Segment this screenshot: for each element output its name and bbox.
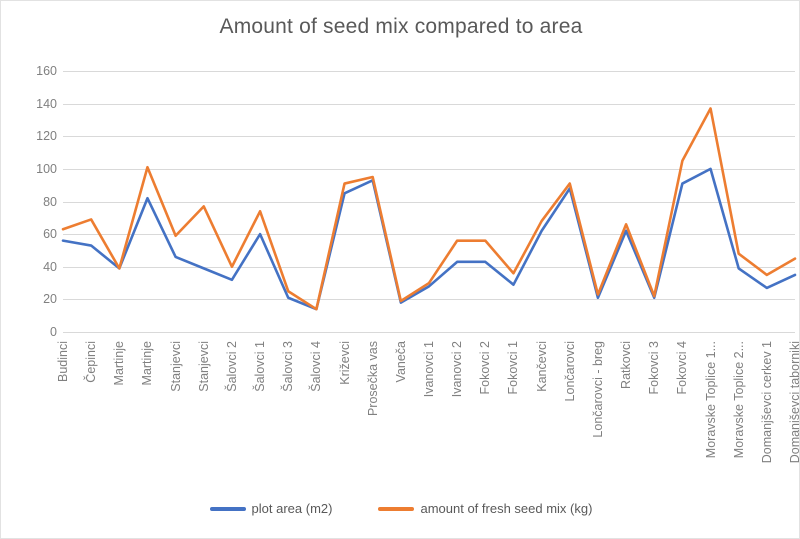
plot-area [63,71,795,332]
x-axis-tick-label: Stanjevci [197,341,211,392]
x-axis-tick: Martinje [106,341,133,487]
y-axis-tick-labels: 020406080100120140160 [1,71,57,332]
y-axis-tick-label: 20 [43,292,57,306]
y-axis-tick-label: 80 [43,195,57,209]
x-axis-tick: Ratkovci [613,341,640,487]
x-axis-tick: Prosečka vas [359,341,386,487]
x-axis-tick-label: Domanjševci taborniki [788,341,800,463]
legend-swatch-icon [210,507,246,511]
x-axis-tick: Budinci [49,341,76,487]
x-axis-tick-labels: BudinciČepinciMartinjeMartinjeStanjevciS… [63,337,795,487]
x-axis-tick-label: Ivanovci 1 [422,341,436,397]
y-axis-tick-label: 140 [36,97,57,111]
x-axis-tick-label: Lončarovci - breg [591,341,605,438]
x-axis-tick: Domanjševci cerkev 1 [753,341,780,487]
x-axis-tick-label: Ivanovci 2 [450,341,464,397]
x-axis-tick: Šalovci 1 [247,341,274,487]
x-axis-tick-label: Kančevci [535,341,549,392]
x-axis-tick: Križevci [331,341,358,487]
x-axis-tick-label: Ratkovci [619,341,633,389]
y-axis-tick-label: 0 [50,325,57,339]
x-axis-tick-label: Fokovci 2 [478,341,492,395]
y-axis-tick-label: 40 [43,260,57,274]
x-axis-tick-label: Fokovci 3 [647,341,661,395]
x-axis-tick-label: Martinje [112,341,126,385]
gridline [63,332,795,333]
x-axis-tick-label: Budinci [56,341,70,382]
y-axis-tick-label: 160 [36,64,57,78]
y-axis-tick-label: 60 [43,227,57,241]
x-axis-tick-label: Stanjevci [169,341,183,392]
x-axis-tick: Ivanovci 1 [415,341,442,487]
x-axis-tick-label: Vaneča [394,341,408,382]
x-axis-tick: Stanjevci [190,341,217,487]
x-axis-tick: Šalovci 2 [218,341,245,487]
chart-container: Amount of seed mix compared to area 0204… [0,0,800,539]
x-axis-tick: Fokovci 3 [641,341,668,487]
x-axis-tick: Fokovci 2 [472,341,499,487]
x-axis-tick-label: Martinje [140,341,154,385]
x-axis-tick: Moravske Toplice 2... [725,341,752,487]
x-axis-tick: Domanjševci taborniki [781,341,800,487]
x-axis-tick-label: Moravske Toplice 1... [704,341,718,458]
x-axis-tick-label: Šalovci 1 [253,341,267,392]
x-axis-tick: Martinje [134,341,161,487]
x-axis-tick-label: Prosečka vas [366,341,380,416]
x-axis-tick-label: Fokovci 4 [675,341,689,395]
chart-legend: plot area (m2)amount of fresh seed mix (… [1,501,800,516]
x-axis-tick-label: Čepinci [84,341,98,383]
legend-swatch-icon [378,507,414,511]
legend-item[interactable]: plot area (m2) [210,501,333,516]
x-axis-tick: Lončarovci [556,341,583,487]
series-lines [63,71,795,332]
chart-title: Amount of seed mix compared to area [1,15,800,39]
x-axis-tick: Stanjevci [162,341,189,487]
x-axis-tick-label: Domanjševci cerkev 1 [760,341,774,463]
series-line [63,109,795,310]
y-axis-tick-label: 100 [36,162,57,176]
x-axis-tick: Šalovci 4 [303,341,330,487]
x-axis-tick-label: Moravske Toplice 2... [732,341,746,458]
x-axis-tick-label: Fokovci 1 [506,341,520,395]
x-axis-tick: Lončarovci - breg [584,341,611,487]
x-axis-tick-label: Križevci [338,341,352,385]
series-line [63,169,795,309]
x-axis-tick-label: Šalovci 3 [281,341,295,392]
x-axis-tick: Vaneča [387,341,414,487]
legend-label: amount of fresh seed mix (kg) [420,501,592,516]
x-axis-tick: Moravske Toplice 1... [697,341,724,487]
x-axis-tick: Ivanovci 2 [444,341,471,487]
x-axis-tick-label: Šalovci 2 [225,341,239,392]
x-axis-tick-label: Šalovci 4 [309,341,323,392]
legend-item[interactable]: amount of fresh seed mix (kg) [378,501,592,516]
x-axis-tick-label: Lončarovci [563,341,577,401]
x-axis-tick: Fokovci 4 [669,341,696,487]
x-axis-tick: Fokovci 1 [500,341,527,487]
legend-label: plot area (m2) [252,501,333,516]
x-axis-tick: Šalovci 3 [275,341,302,487]
x-axis-tick: Čepinci [78,341,105,487]
y-axis-tick-label: 120 [36,129,57,143]
x-axis-tick: Kančevci [528,341,555,487]
